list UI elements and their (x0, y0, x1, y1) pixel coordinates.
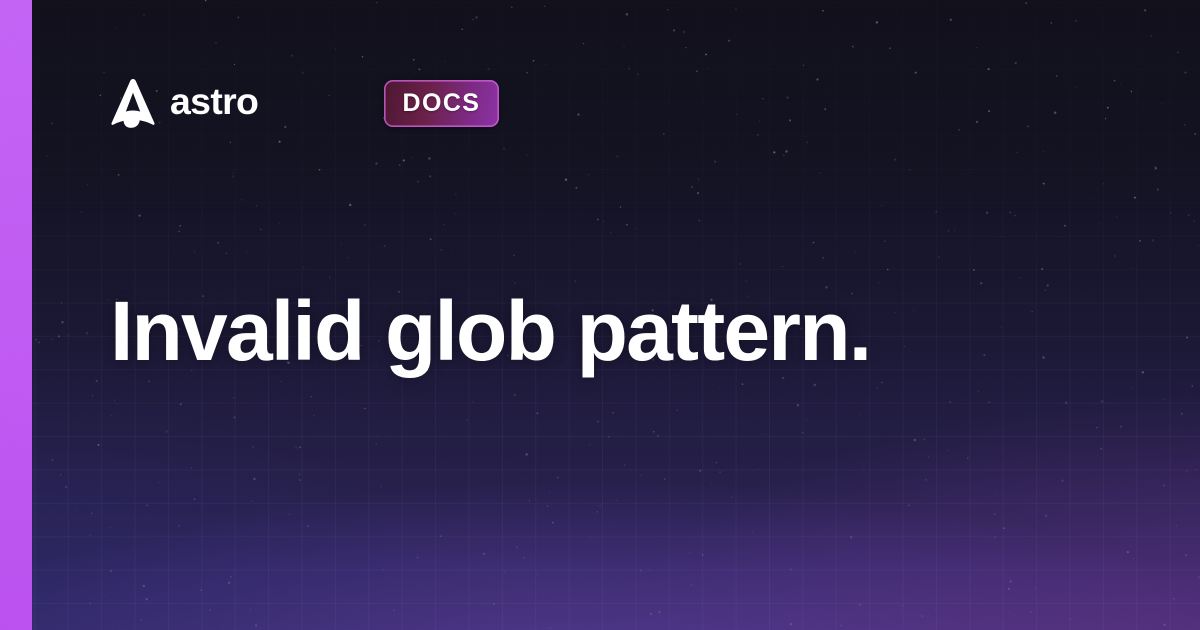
page-title: Invalid glob pattern. (110, 286, 1120, 377)
astro-logo-lockup[interactable]: astro (110, 78, 364, 128)
docs-badge[interactable]: DOCS (384, 80, 500, 127)
astro-wordmark: astro (170, 83, 364, 123)
astro-wordmark-text: astro (170, 83, 258, 122)
brand-row: astro DOCS (110, 78, 499, 128)
og-card: astro DOCS Invalid glob pattern. (0, 0, 1200, 630)
docs-badge-label: DOCS (403, 91, 481, 116)
card-content: astro DOCS Invalid glob pattern. (0, 0, 1200, 630)
astro-rocket-icon (110, 78, 156, 128)
